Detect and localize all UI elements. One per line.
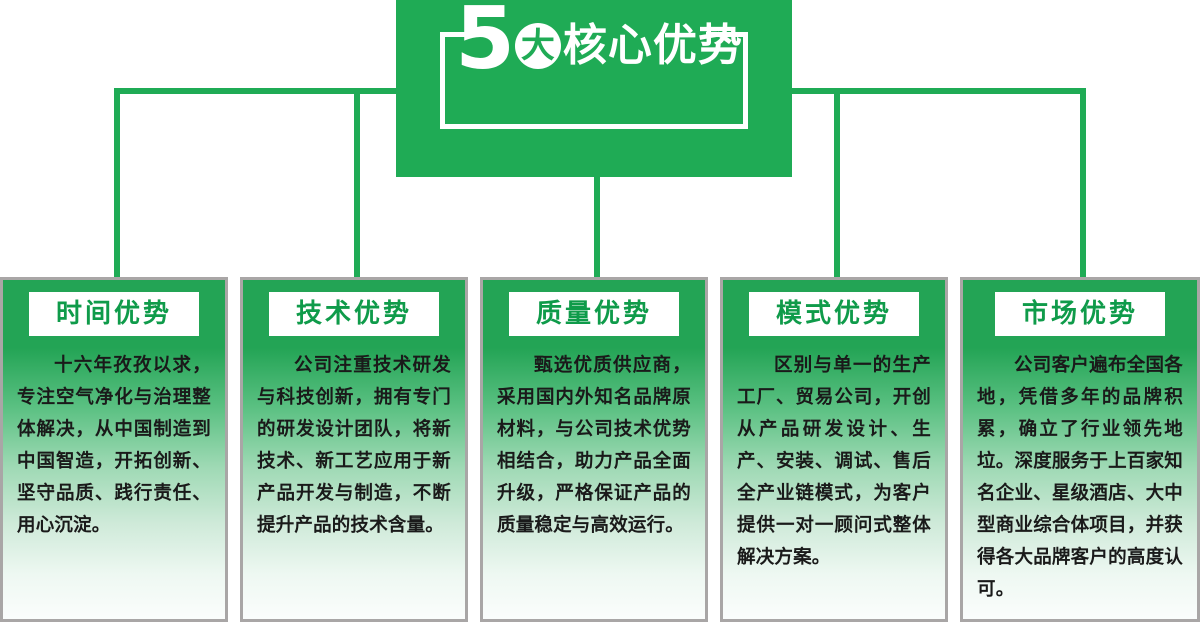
card-body-text: 十六年孜孜以求，专注空气净化与治理整体解决，从中国制造到中国智造，开拓创新、坚守…	[17, 350, 211, 542]
card-title-text: 质量优势	[536, 301, 652, 327]
card-title-text: 技术优势	[296, 301, 412, 327]
card-title-box: 时间优势	[29, 292, 199, 336]
card-title-text: 模式优势	[776, 301, 892, 327]
title-badge-da: 大	[515, 23, 561, 69]
advantage-card-quality[interactable]: 质量优势 甄选优质供应商，采用国内外知名品牌原材料，与公司技术优势相结合，助力产…	[480, 277, 708, 622]
card-body-text: 区别与单一的生产工厂、贸易公司，开创从产品研发设计、生产、安装、调试、售后全产业…	[737, 350, 931, 574]
header-block: 5 大 核心优势	[396, 0, 792, 177]
advantage-card-time[interactable]: 时间优势 十六年孜孜以求，专注空气净化与治理整体解决，从中国制造到中国智造，开拓…	[0, 277, 228, 622]
advantage-card-model[interactable]: 模式优势 区别与单一的生产工厂、贸易公司，开创从产品研发设计、生产、安装、调试、…	[720, 277, 948, 622]
title-bracket-frame: 5 大 核心优势	[440, 37, 748, 129]
card-title-box: 市场优势	[995, 292, 1165, 336]
infographic-canvas: 5 大 核心优势 时间优势 十六年孜孜以求，专注空气净化与治理整体解决，从中国制…	[0, 0, 1200, 624]
card-title-box: 质量优势	[509, 292, 679, 336]
title-label: 核心优势	[563, 24, 743, 68]
advantage-card-market[interactable]: 市场优势 公司客户遍布全国各地，凭借多年的品牌积累，确立了行业领先地垃。深度服务…	[960, 277, 1200, 622]
connector-drop-card-4	[834, 88, 840, 280]
connector-drop-card-3	[594, 176, 600, 280]
card-body-text: 甄选优质供应商，采用国内外知名品牌原材料，与公司技术优势相结合，助力产品全面升级…	[497, 350, 691, 542]
card-title-box: 模式优势	[749, 292, 919, 336]
card-body-text: 公司客户遍布全国各地，凭借多年的品牌积累，确立了行业领先地垃。深度服务于上百家知…	[977, 350, 1183, 606]
advantage-card-technology[interactable]: 技术优势 公司注重技术研发与科技创新，拥有专门的研发设计团队，将新技术、新工艺应…	[240, 277, 468, 622]
page-title: 5 大 核心优势	[445, 0, 753, 87]
card-title-text: 时间优势	[56, 301, 172, 327]
connector-drop-card-2	[354, 88, 360, 280]
connector-drop-card-1	[114, 88, 120, 280]
card-title-box: 技术优势	[269, 292, 439, 336]
card-body-text: 公司注重技术研发与科技创新，拥有专门的研发设计团队，将新技术、新工艺应用于新产品…	[257, 350, 451, 542]
connector-drop-card-5	[1080, 88, 1086, 280]
title-number: 5	[455, 0, 513, 82]
card-title-text: 市场优势	[1022, 301, 1138, 327]
